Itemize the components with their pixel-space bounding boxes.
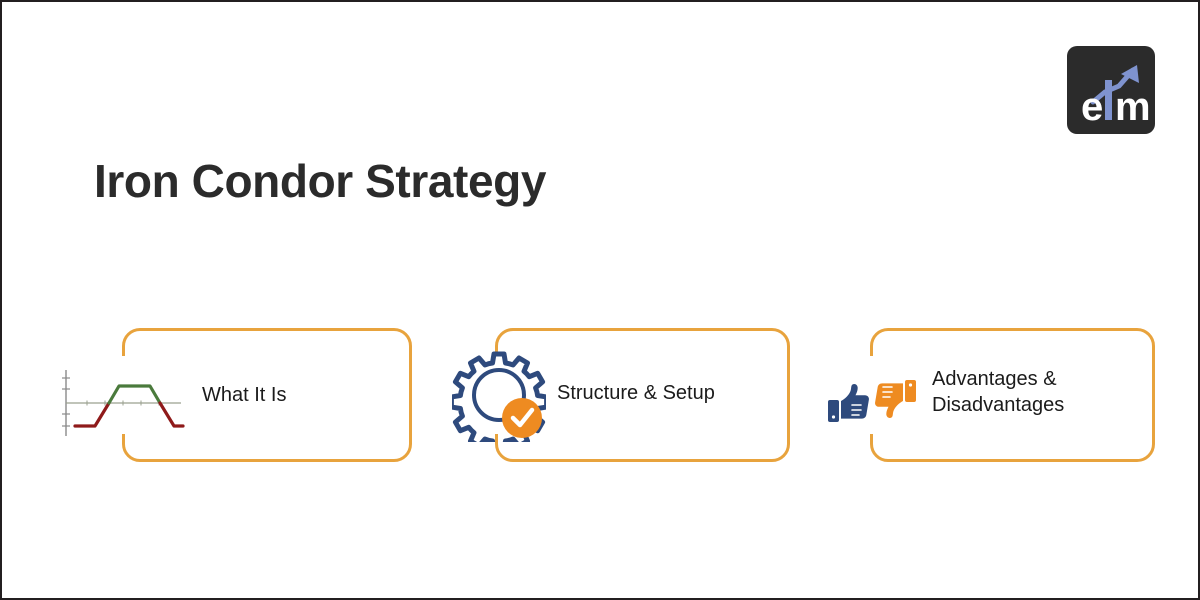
elm-logo: e m	[1067, 46, 1155, 134]
check-badge-circle	[502, 398, 542, 438]
thumbs-up-icon	[828, 384, 869, 422]
card-label-line-2: Disadvantages	[932, 392, 1064, 418]
payoff-chart-graphic	[57, 364, 187, 442]
thumbs-down-icon	[875, 380, 916, 418]
payoff-chart-icon	[57, 364, 187, 447]
payoff-lower-wing-right	[160, 403, 183, 426]
card-label-line-1: Advantages &	[932, 366, 1064, 392]
infographic-page: e m Iron Condor Strategy	[0, 0, 1200, 600]
cards-row: What It Is Structure & Setup	[2, 328, 1200, 468]
payoff-profit-plateau	[109, 386, 160, 403]
card-what-it-is[interactable]: What It Is	[122, 328, 412, 462]
gear-check-icon	[452, 348, 546, 447]
card-label-structure-setup: Structure & Setup	[557, 380, 715, 406]
card-advantages-disadvantages[interactable]: Advantages & Disadvantages	[870, 328, 1155, 462]
page-title: Iron Condor Strategy	[94, 154, 546, 208]
card-label-what-it-is: What It Is	[202, 382, 286, 408]
card-label-advantages-disadvantages: Advantages & Disadvantages	[932, 366, 1064, 418]
card-structure-setup[interactable]: Structure & Setup	[495, 328, 790, 462]
payoff-lower-wing-left	[75, 403, 109, 426]
thumbs-graphic	[826, 378, 918, 424]
logo-letter-m: m	[1115, 85, 1151, 129]
gear-check-graphic	[452, 348, 546, 442]
elm-logo-graphic: e m	[1067, 46, 1155, 134]
logo-letter-l	[1105, 80, 1112, 120]
logo-letter-e: e	[1081, 85, 1103, 129]
thumbs-up-down-icon	[826, 378, 918, 429]
